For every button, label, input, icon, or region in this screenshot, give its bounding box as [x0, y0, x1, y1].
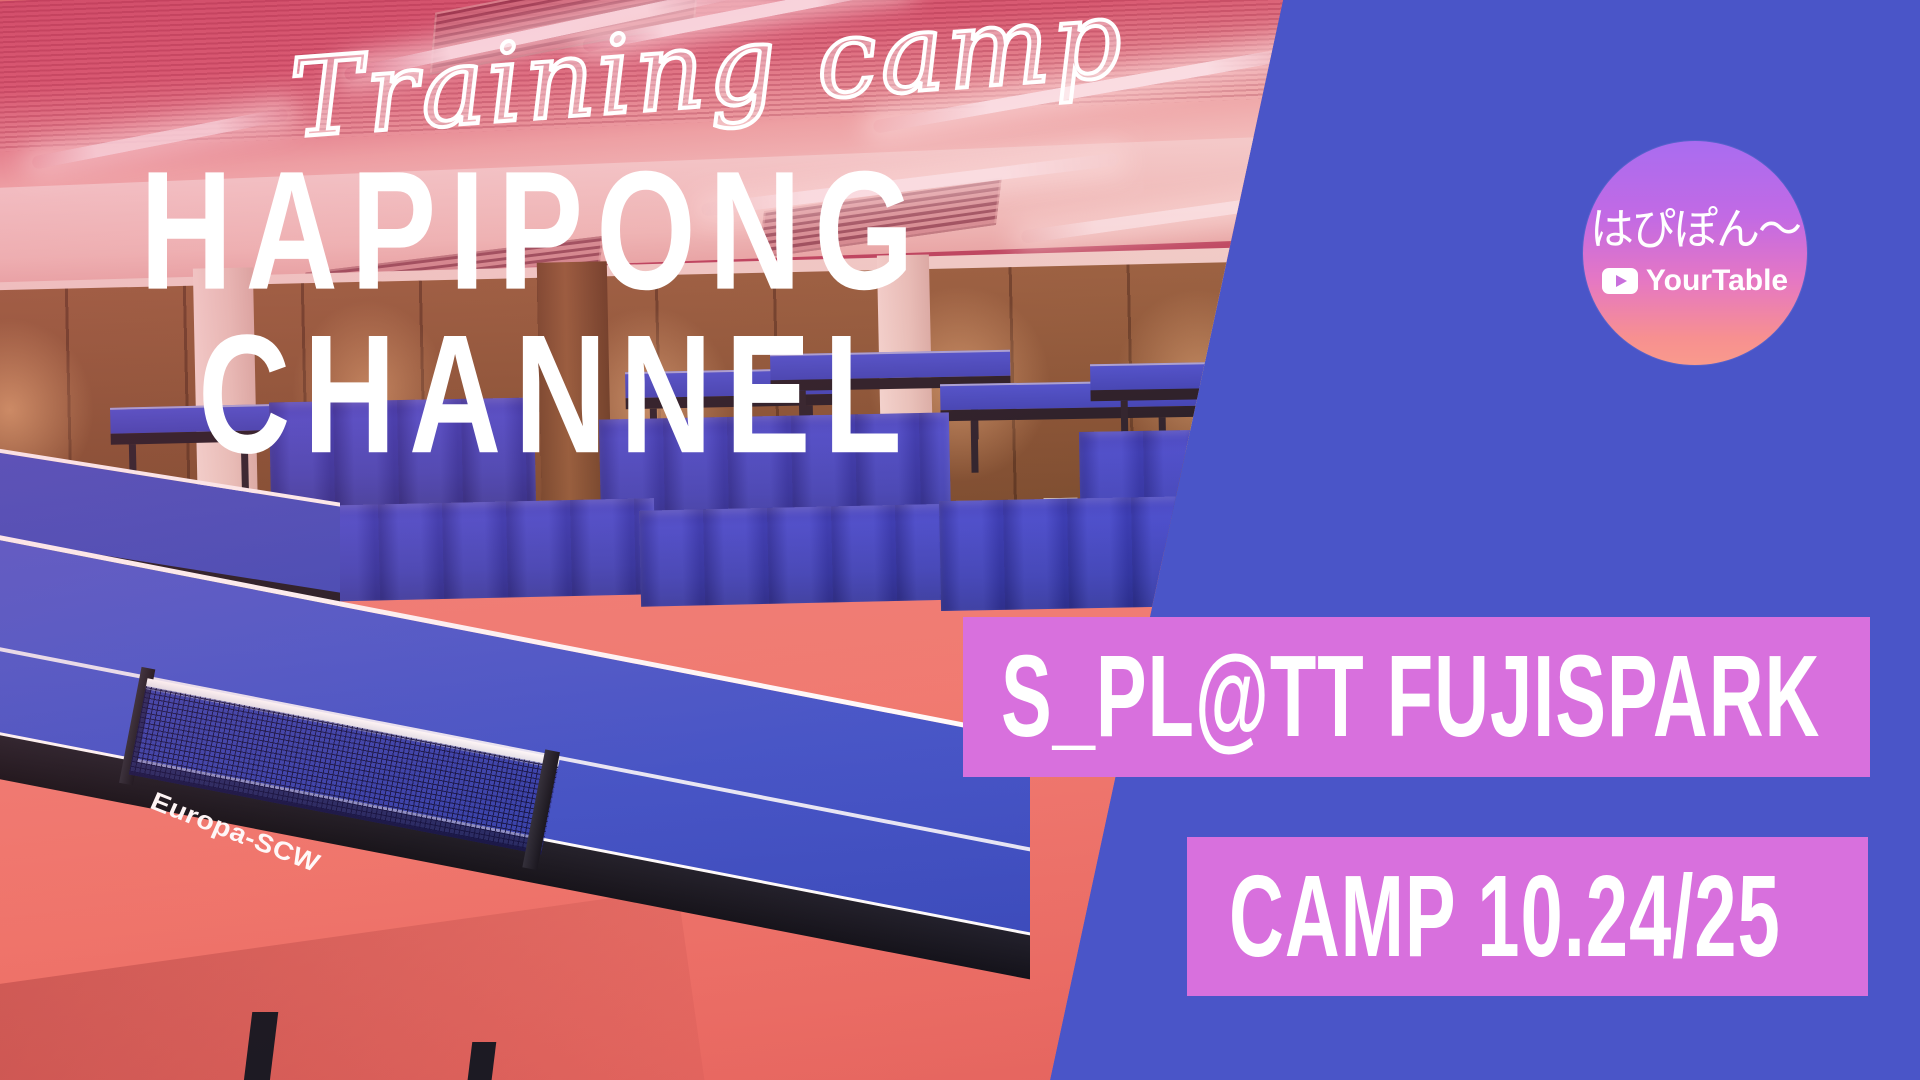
table-leg: [228, 1012, 279, 1080]
youtube-play-icon: [1602, 268, 1638, 294]
court-barrier: [314, 498, 656, 602]
venue-banner: S_PL@TT FUJISPARK: [963, 617, 1870, 777]
logo-japanese-text: はぴぽん〜: [1590, 208, 1800, 252]
title-line-1: HAPIPONG: [140, 150, 1040, 314]
logo-channel-row: YourTable: [1602, 264, 1788, 298]
barrier-folds: [314, 498, 656, 602]
table-top: [1090, 360, 1350, 391]
date-banner-label: CAMP 10.24/25: [1229, 859, 1781, 975]
channel-logo-badge[interactable]: はぴぽん〜 YourTable: [1583, 141, 1807, 365]
table-leg: [1311, 397, 1319, 449]
venue-banner-label: S_PL@TT FUJISPARK: [1001, 639, 1820, 755]
youtube-thumbnail: 6 TSP TSP: [0, 0, 1920, 1080]
date-banner: CAMP 10.24/25: [1187, 837, 1868, 996]
page-title: HAPIPONG CHANNEL: [140, 150, 1040, 478]
court-barrier: [939, 495, 1261, 611]
barrier-folds: [939, 495, 1261, 611]
title-line-2: CHANNEL: [198, 314, 1040, 478]
channel-name-label: YourTable: [1646, 264, 1788, 298]
table-leg: [448, 1042, 497, 1080]
